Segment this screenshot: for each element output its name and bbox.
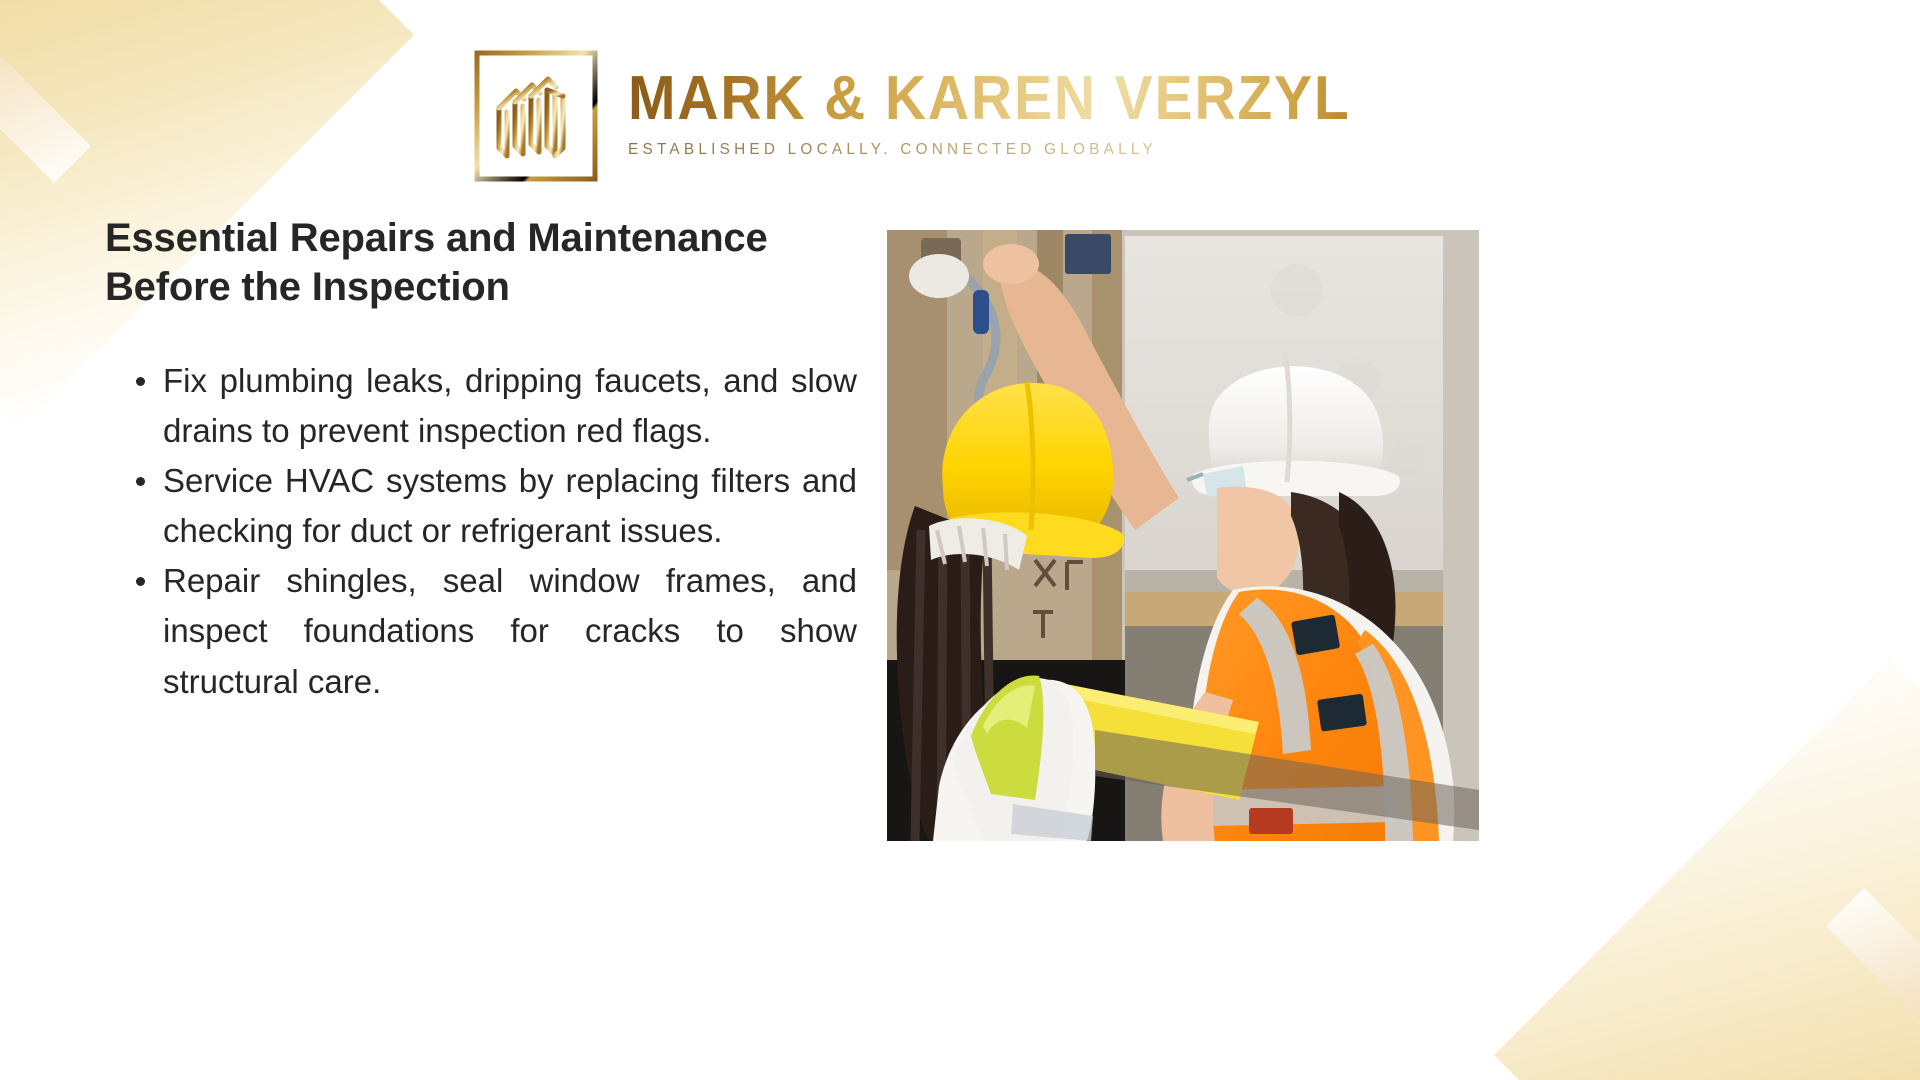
gold-wedge-bottom-right [1494, 659, 1920, 1080]
bullet-text: Service HVAC systems by replacing filter… [163, 462, 857, 549]
bullet-list: Fix plumbing leaks, dripping faucets, an… [105, 356, 857, 707]
gold-stripe-top-left [0, 0, 91, 183]
gold-stripe-bottom-right [1826, 888, 1920, 1080]
list-item: Repair shingles, seal window frames, and… [163, 556, 857, 706]
inspection-photo [887, 230, 1479, 841]
bullet-text: Fix plumbing leaks, dripping faucets, an… [163, 362, 857, 449]
bullet-text: Repair shingles, seal window frames, and… [163, 562, 857, 699]
brand-tagline: ESTABLISHED LOCALLY. CONNECTED GLOBALLY [628, 142, 1382, 158]
verzyl-monogram-icon [474, 50, 598, 182]
list-item: Fix plumbing leaks, dripping faucets, an… [163, 356, 857, 456]
brand-lockup-text: MARK & KAREN VERZYL ESTABLISHED LOCALLY.… [628, 50, 1413, 182]
headline-line-2: Before the Inspection [105, 265, 510, 309]
slide-canvas: MARK & KAREN VERZYL ESTABLISHED LOCALLY.… [0, 0, 1920, 1080]
page-title: Essential Repairs and Maintenance Before… [105, 214, 857, 312]
headline-line-1: Essential Repairs and Maintenance [105, 216, 768, 260]
list-item: Service HVAC systems by replacing filter… [163, 456, 857, 556]
left-content-column: Essential Repairs and Maintenance Before… [105, 214, 857, 707]
brand-name: MARK & KAREN VERZYL [628, 68, 1351, 130]
brand-logo: MARK & KAREN VERZYL ESTABLISHED LOCALLY.… [474, 50, 1413, 182]
